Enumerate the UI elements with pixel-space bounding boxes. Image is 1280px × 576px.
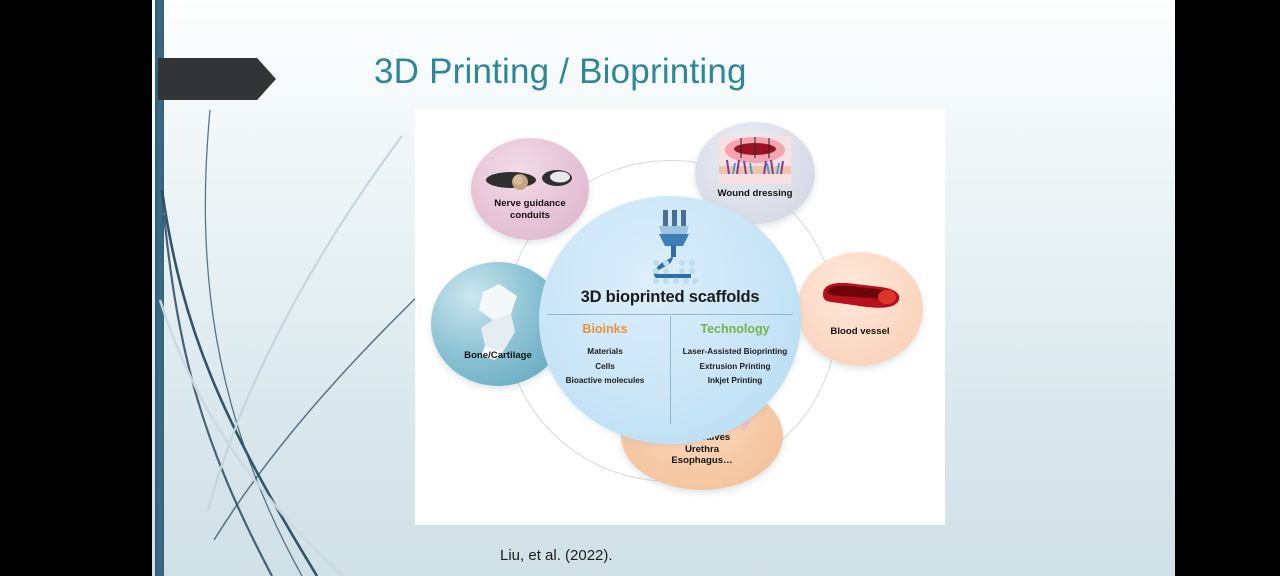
figure-image-panel[interactable]: Nerve guidanceconduits — [415, 110, 945, 525]
core-divider-horizontal — [547, 314, 793, 315]
bioinks-heading: Bioinks — [542, 322, 668, 336]
screen-stage: 3D Printing / Bioprinting Nerve guidance… — [0, 0, 1280, 576]
list-item: Bioactive molecules — [541, 374, 669, 389]
core-heading: 3D bioprinted scaffolds — [539, 288, 801, 307]
node-label: Nerve guidanceconduits — [471, 198, 589, 221]
bioprinter-nozzle-icon — [647, 210, 701, 288]
page-title: 3D Printing / Bioprinting — [374, 52, 747, 92]
figure-canvas: Nerve guidanceconduits — [415, 110, 945, 525]
technology-heading: Technology — [672, 322, 798, 336]
node-label: Blood vessel — [797, 326, 923, 338]
node-nerve-guidance-conduits[interactable]: Nerve guidanceconduits — [471, 138, 589, 240]
figure-citation: Liu, et al. (2022). — [500, 547, 613, 564]
title-banner-arrow — [158, 58, 276, 100]
wound-dressing-icon — [719, 136, 791, 184]
technology-item-list: Laser-Assisted Bioprinting Extrusion Pri… — [671, 345, 799, 389]
list-item: Inkjet Printing — [671, 374, 799, 389]
core-circle[interactable]: 3D bioprinted scaffolds Bioinks Technolo… — [539, 196, 801, 444]
blood-vessel-icon — [817, 278, 905, 312]
node-label: Wound dressing — [695, 188, 815, 200]
bone-cartilage-icon — [465, 280, 531, 360]
presentation-slide: 3D Printing / Bioprinting Nerve guidance… — [152, 0, 1175, 576]
list-item: Materials — [541, 345, 669, 360]
nerve-conduit-icon — [485, 164, 577, 198]
bioinks-item-list: Materials Cells Bioactive molecules — [541, 345, 669, 389]
list-item: Cells — [541, 360, 669, 375]
list-item: Extrusion Printing — [671, 360, 799, 375]
node-blood-vessel[interactable]: Blood vessel — [797, 252, 923, 366]
list-item: Laser-Assisted Bioprinting — [671, 345, 799, 360]
